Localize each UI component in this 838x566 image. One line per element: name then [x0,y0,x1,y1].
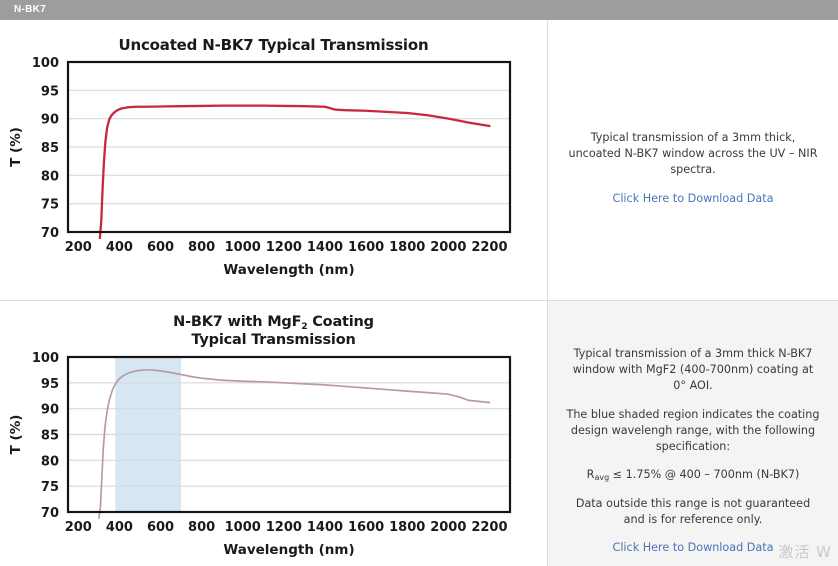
coated-description: Typical transmission of a 3mm thick N-BK… [566,346,820,395]
svg-text:400: 400 [106,520,133,535]
svg-text:90: 90 [41,403,59,418]
svg-text:800: 800 [188,240,215,255]
window-tabbar: N-BK7 [0,0,838,20]
svg-text:85: 85 [41,429,59,444]
svg-text:600: 600 [147,520,174,535]
svg-text:95: 95 [41,377,59,392]
svg-text:1000: 1000 [225,240,261,255]
svg-text:1400: 1400 [307,520,343,535]
svg-text:2200: 2200 [471,240,507,255]
uncoated-description: Typical transmission of a 3mm thick, unc… [566,130,820,179]
uncoated-info-panel: Typical transmission of a 3mm thick, unc… [548,20,838,301]
activation-watermark: 激活 W [778,541,832,562]
svg-text:2000: 2000 [430,520,466,535]
uncoated-download-link[interactable]: Click Here to Download Data [613,192,774,205]
coated-specification: Ravg ≤ 1.75% @ 400 – 700nm (N-BK7) [566,467,820,483]
svg-text:95: 95 [41,84,59,99]
svg-text:800: 800 [188,520,215,535]
svg-text:T (%): T (%) [8,415,24,455]
uncoated-chart-cell: Uncoated N-BK7 Typical Transmission 7075… [0,20,548,301]
uncoated-transmission-plot: 7075808590951002004006008001000120014001… [0,54,548,284]
svg-text:100: 100 [32,351,59,366]
coated-shaded-note: The blue shaded region indicates the coa… [566,407,820,456]
coated-disclaimer: Data outside this range is not guarantee… [566,496,820,528]
coated-chart-title-line1: N-BK7 with MgF2 Coating [173,314,374,330]
svg-text:1600: 1600 [348,240,384,255]
svg-text:200: 200 [65,240,92,255]
svg-text:1800: 1800 [389,520,425,535]
svg-text:75: 75 [41,480,59,495]
tab-n-bk7[interactable]: N-BK7 [0,0,56,20]
uncoated-plot-wrapper: 7075808590951002004006008001000120014001… [0,54,547,284]
uncoated-chart-title: Uncoated N-BK7 Typical Transmission [0,36,547,54]
svg-text:85: 85 [41,141,59,156]
svg-text:400: 400 [106,240,133,255]
svg-text:2000: 2000 [430,240,466,255]
svg-text:70: 70 [41,226,59,241]
svg-text:1200: 1200 [266,240,302,255]
coated-chart-title: N-BK7 with MgF2 Coating Typical Transmis… [0,313,547,349]
svg-text:75: 75 [41,198,59,213]
coated-info-panel: Typical transmission of a 3mm thick N-BK… [548,301,838,566]
coated-transmission-plot: 7075808590951002004006008001000120014001… [0,349,548,564]
svg-text:80: 80 [41,169,59,184]
svg-text:1000: 1000 [225,520,261,535]
svg-text:200: 200 [65,520,92,535]
coated-chart-cell: N-BK7 with MgF2 Coating Typical Transmis… [0,301,548,566]
coated-download-link[interactable]: Click Here to Download Data [613,541,774,554]
svg-text:100: 100 [32,56,59,71]
svg-text:90: 90 [41,113,59,128]
svg-text:1800: 1800 [389,240,425,255]
svg-text:1400: 1400 [307,240,343,255]
svg-text:Wavelength (nm): Wavelength (nm) [223,542,354,558]
svg-text:T (%): T (%) [8,127,24,167]
svg-text:1600: 1600 [348,520,384,535]
svg-text:2200: 2200 [471,520,507,535]
svg-text:1200: 1200 [266,520,302,535]
svg-text:600: 600 [147,240,174,255]
content-grid: Uncoated N-BK7 Typical Transmission 7075… [0,20,838,566]
coated-chart-title-line2: Typical Transmission [191,332,355,348]
svg-text:80: 80 [41,455,59,470]
svg-text:70: 70 [41,506,59,521]
product-transmission-page: N-BK7 Uncoated N-BK7 Typical Transmissio… [0,0,838,566]
svg-text:Wavelength (nm): Wavelength (nm) [223,262,354,278]
coated-plot-wrapper: 7075808590951002004006008001000120014001… [0,349,547,564]
